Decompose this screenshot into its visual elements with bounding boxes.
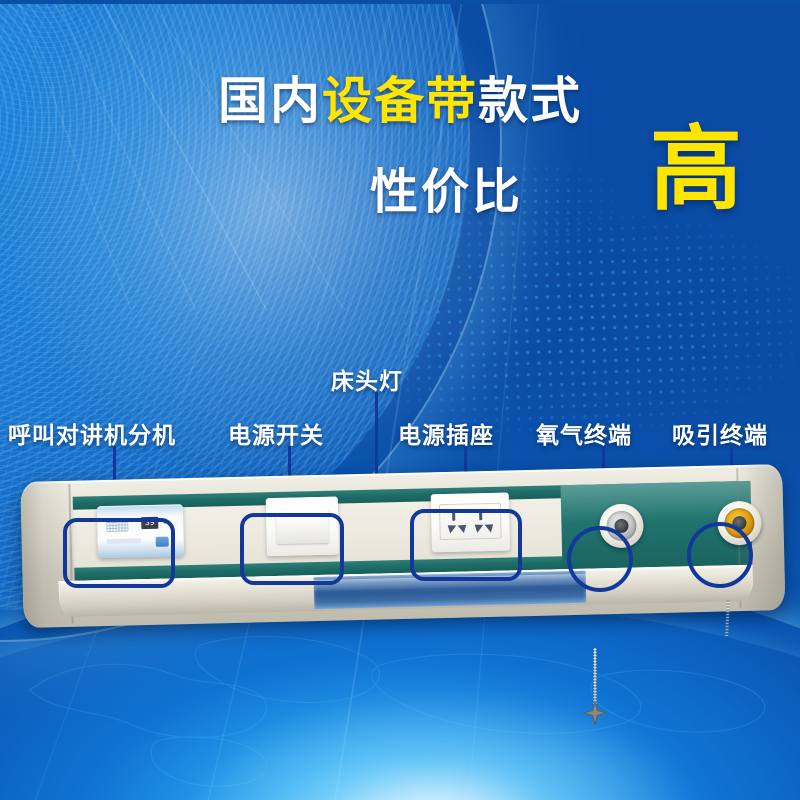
headline-seg-domestic: 国内 — [218, 72, 322, 130]
highlight-circle-oxygen — [567, 526, 633, 592]
headline-seg-style: 款式 — [478, 72, 582, 130]
oxygen-cord-texture — [593, 648, 597, 704]
headline-block: 国内设备带款式 性价比 高 — [0, 76, 800, 232]
top-edge-bar — [0, 0, 800, 4]
callout-label-intercom: 呼叫对讲机分机 — [8, 416, 176, 450]
callout-label-oxygen: 氧气终端 — [536, 416, 632, 450]
callout-label-switch: 电源开关 — [228, 416, 324, 450]
highlight-box-switch — [240, 513, 344, 585]
cord-cross-hook-icon — [580, 700, 610, 730]
highlight-circle-suction — [687, 522, 753, 588]
poster-canvas: 国内设备带款式 性价比 高 呼叫对讲机分机 电源开关 床头灯 电源插座 氧气终端… — [0, 0, 800, 800]
callout-label-socket: 电源插座 — [398, 416, 494, 450]
callout-label-suction: 吸引终端 — [672, 416, 768, 450]
headline-seg-equipment: 设备带 — [322, 72, 478, 130]
headline-seg-value: 性价比 — [370, 152, 523, 222]
headline-seg-high: 高 — [650, 124, 742, 216]
highlight-box-intercom — [63, 518, 175, 588]
highlight-box-socket — [410, 509, 522, 581]
callout-label-bedlight: 床头灯 — [331, 362, 403, 396]
headline-line-2: 性价比 高 — [0, 146, 800, 232]
